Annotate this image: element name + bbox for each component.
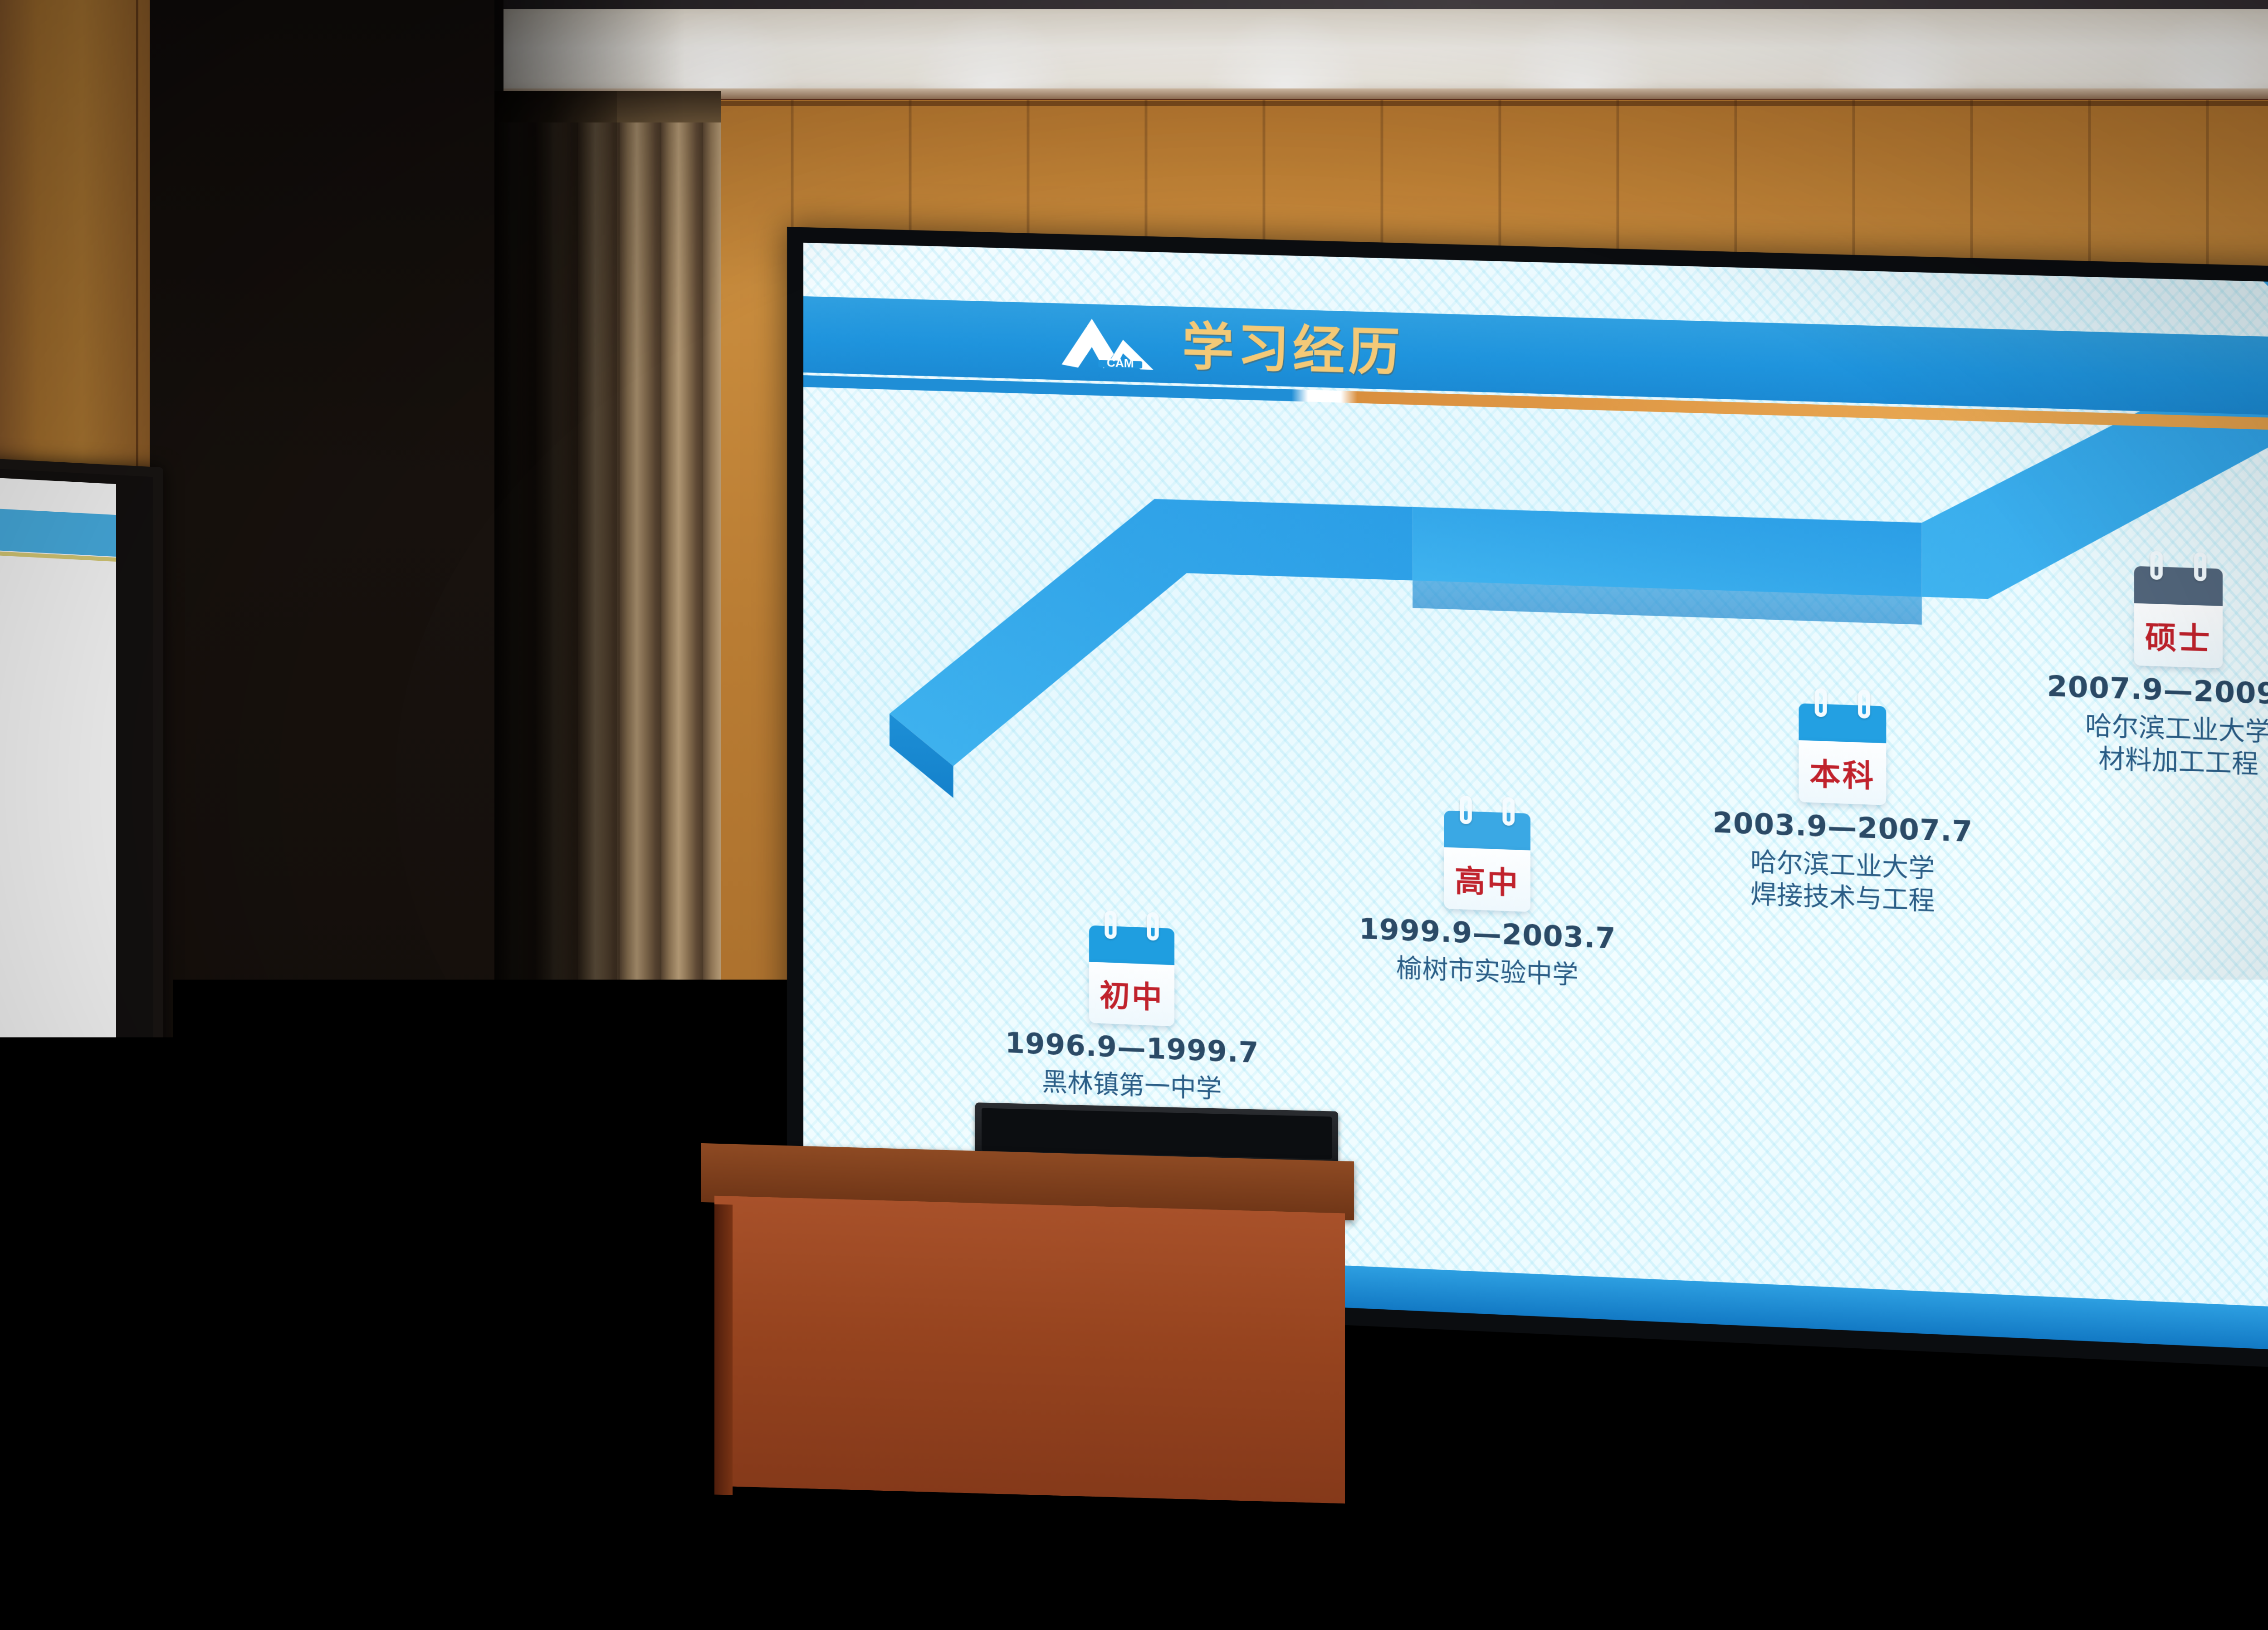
speaker-ear-right — [1078, 821, 1098, 860]
ceiling-cove-light — [501, 9, 2268, 95]
shirt-button — [1017, 1089, 1026, 1097]
podium-left-edge — [714, 1204, 733, 1495]
monitor-screen: 3.7 学 — [0, 477, 116, 1092]
monitor-text-fragment-1: 3.7 — [0, 711, 68, 750]
calendar-ring-left — [1460, 795, 1472, 824]
timeline-range-3: 2003.9—2007.7 — [1664, 804, 2022, 851]
calendar-icon-2: 高中 — [1444, 810, 1530, 912]
speaker-eye-left — [978, 835, 1006, 845]
timeline-school-2: 榆树市实验中学 — [1311, 949, 1664, 995]
podium-column-base — [826, 1479, 1030, 1630]
speaker-mouth — [1002, 884, 1043, 897]
monitor-slide-band — [0, 508, 116, 557]
timeline-range-4: 2007.9—2009.7 — [1989, 667, 2268, 714]
calendar-label-4: 硕士 — [2145, 612, 2212, 659]
calendar-head-4 — [2134, 566, 2223, 608]
shirt-button — [1017, 1025, 1026, 1034]
cove-downlights — [501, 9, 2268, 95]
speaker-eye-right — [1035, 835, 1063, 845]
timeline-item-4: 硕士 2007.9—2009.7 哈尔滨工业大学 材料加工工程 — [1989, 562, 2268, 785]
slide-title: 学习经历 — [1182, 318, 1403, 382]
calendar-icon-3: 本科 — [1799, 703, 1886, 805]
calendar-ring-left — [1815, 688, 1827, 717]
curtain-shadow — [494, 91, 617, 1547]
speaker-ear-left — [946, 821, 966, 860]
calendar-ring-right — [2194, 552, 2206, 581]
left-confidence-monitor: 3.7 学 — [0, 458, 163, 1148]
calendar-ring-right — [1502, 797, 1515, 826]
timeline-item-2: 高中 1999.9—2003.7 榆树市实验中学 — [1311, 806, 1664, 995]
calendar-body-4: 硕士 — [2134, 603, 2223, 669]
presentation-scene: 3.7 学 — [0, 0, 2268, 1630]
calendar-head-2 — [1444, 810, 1530, 852]
speaker-nose — [1015, 851, 1031, 876]
calendar-ring-right — [1858, 690, 1870, 719]
calendar-head-3 — [1799, 703, 1886, 745]
calendar-body-3: 本科 — [1799, 740, 1886, 805]
svg-text:CAM: CAM — [1107, 356, 1134, 370]
timeline-item-3: 本科 2003.9—2007.7 哈尔滨工业大学 焊接技术与工程 — [1664, 699, 2022, 921]
party-emblem-pin-icon — [1058, 1088, 1084, 1107]
wall-top-trim — [678, 101, 2268, 106]
monitor-text-fragment-2: 学 — [0, 752, 68, 788]
calendar-label-3: 本科 — [1809, 749, 1875, 796]
timeline-range-2: 1999.9—2003.7 — [1311, 910, 1664, 957]
calendar-ring-left — [2151, 551, 2163, 580]
calendar-icon-4: 硕士 — [2134, 566, 2223, 669]
cam-mountain-logo-icon: CAM — [1056, 313, 1166, 375]
podium-front-panel — [714, 1196, 1345, 1504]
calendar-label-2: 高中 — [1455, 857, 1520, 903]
calendar-body-2: 高中 — [1444, 847, 1530, 912]
